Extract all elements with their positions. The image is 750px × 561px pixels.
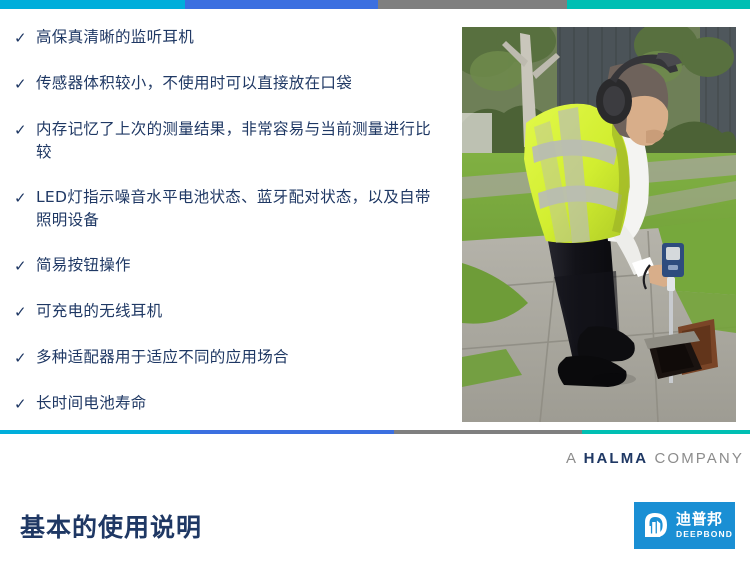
bottom-rule-segment-gray [394, 430, 582, 434]
halma-prefix: A [566, 450, 577, 467]
checkmark-icon: ✓ [14, 26, 36, 50]
bullet-item-label: 高保真清晰的监听耳机 [36, 26, 438, 49]
bullet-item-label: 多种适配器用于适应不同的应用场合 [36, 346, 438, 369]
bullet-item-label: 简易按钮操作 [36, 254, 438, 277]
bullet-item: ✓传感器体积较小，不使用时可以直接放在口袋 [0, 72, 448, 96]
photo-illustration [462, 27, 736, 422]
top-rule-segment-blue [185, 0, 378, 9]
checkmark-icon: ✓ [14, 72, 36, 96]
halma-brand: HALMA [584, 450, 649, 467]
bullet-item: ✓LED灯指示噪音水平电池状态、蓝牙配对状态，以及自带照明设备 [0, 186, 448, 232]
bullet-item: ✓内存记忆了上次的测量结果，非常容易与当前测量进行比较 [0, 118, 448, 164]
bullet-item: ✓高保真清晰的监听耳机 [0, 26, 448, 50]
bullet-item-label: 可充电的无线耳机 [36, 300, 438, 323]
bullet-item: ✓可充电的无线耳机 [0, 300, 448, 324]
checkmark-icon: ✓ [14, 346, 36, 370]
halma-suffix: COMPANY [655, 450, 744, 467]
bullet-item: ✓长时间电池寿命 [0, 392, 448, 416]
deepbond-d-mark-icon [639, 509, 673, 543]
deepbond-english-name: DEEPBOND [676, 530, 733, 539]
bottom-rule-segment-cyan [0, 430, 190, 434]
checkmark-icon: ✓ [14, 300, 36, 324]
halma-company-wordmark: A HALMA COMPANY [566, 450, 740, 467]
checkmark-icon: ✓ [14, 392, 36, 416]
checkmark-icon: ✓ [14, 186, 36, 210]
field-technician-photo [462, 27, 736, 422]
bullet-item-label: 长时间电池寿命 [36, 392, 438, 415]
bottom-color-rule [0, 430, 750, 434]
top-rule-segment-teal [567, 0, 750, 9]
bullet-item-label: 传感器体积较小，不使用时可以直接放在口袋 [36, 72, 438, 95]
deepbond-chinese-name: 迪普邦 [676, 512, 733, 527]
top-rule-segment-gray [378, 0, 567, 9]
bullet-item-label: 内存记忆了上次的测量结果，非常容易与当前测量进行比较 [36, 118, 438, 164]
bottom-rule-segment-teal [582, 430, 750, 434]
deepbond-logo-text: 迪普邦 DEEPBOND [676, 512, 733, 539]
feature-bullet-list: ✓高保真清晰的监听耳机✓传感器体积较小，不使用时可以直接放在口袋✓内存记忆了上次… [0, 26, 448, 416]
checkmark-icon: ✓ [14, 118, 36, 142]
bullet-item: ✓多种适配器用于适应不同的应用场合 [0, 346, 448, 370]
checkmark-icon: ✓ [14, 254, 36, 278]
deepbond-logo: 迪普邦 DEEPBOND [634, 502, 735, 549]
top-rule-segment-cyan [0, 0, 185, 9]
bullet-item: ✓简易按钮操作 [0, 254, 448, 278]
page-title: 基本的使用说明 [20, 508, 202, 544]
top-color-rule [0, 0, 750, 9]
bottom-rule-segment-blue [190, 430, 394, 434]
bullet-item-label: LED灯指示噪音水平电池状态、蓝牙配对状态，以及自带照明设备 [36, 186, 438, 232]
